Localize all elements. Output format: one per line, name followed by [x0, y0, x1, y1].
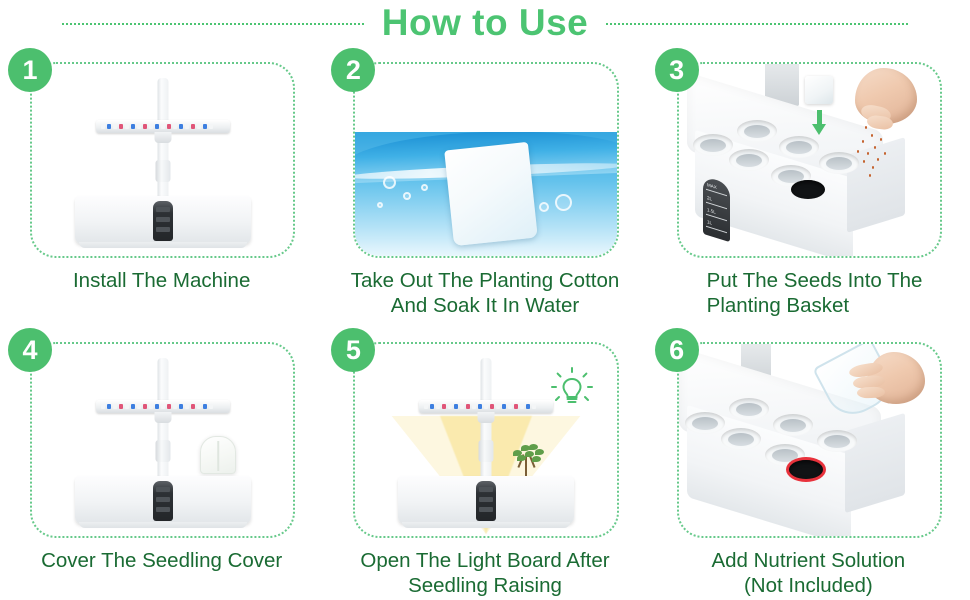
step-caption-1: Install The Machine	[6, 268, 317, 293]
caption-line: Open The Light Board After	[329, 548, 640, 573]
pole-joint	[155, 160, 170, 182]
pole-joint	[478, 440, 493, 462]
caption-line: (Not Included)	[653, 573, 964, 598]
step-badge-5: 5	[331, 328, 375, 372]
telescoping-pole	[480, 358, 491, 490]
planting-pod	[779, 136, 819, 158]
steps-grid: 1	[0, 40, 970, 600]
step-panel-6	[677, 342, 942, 538]
header-rule-right	[606, 23, 908, 25]
planting-pod	[817, 430, 857, 452]
caption-line: Seedling Raising	[329, 573, 640, 598]
down-arrow	[812, 110, 827, 135]
caption-line: Install The Machine	[6, 268, 317, 293]
cotton-cube	[805, 76, 833, 104]
scene-light-board-on	[355, 344, 616, 536]
scene-grow-light-device	[32, 64, 293, 256]
fill-hole-highlight	[789, 460, 823, 479]
planting-pod	[693, 134, 733, 156]
step-badge-2: 2	[331, 48, 375, 92]
step-badge-3: 3	[655, 48, 699, 92]
step-cell-4: 4	[0, 320, 323, 600]
scene-seeds-into-basket: MAX 2L 1.5L 1L	[679, 64, 940, 256]
step-panel-3: MAX 2L 1.5L 1L	[677, 62, 942, 258]
planting-pod	[729, 398, 769, 420]
step-panel-5	[353, 342, 618, 538]
water-level-gauge: MAX 2L 1.5L 1L	[703, 176, 730, 242]
planting-pod	[737, 120, 777, 142]
scene-cotton-in-water	[355, 64, 616, 256]
led-bar-hub	[154, 132, 171, 143]
gauge-mark: 1L	[706, 226, 727, 233]
caption-line: Put The Seeds Into The	[707, 268, 964, 293]
base-reservoir	[75, 196, 251, 244]
planting-pod	[729, 149, 769, 171]
step-caption-5: Open The Light Board After Seedling Rais…	[329, 548, 640, 598]
step-cell-6: 6	[647, 320, 970, 600]
caption-line: Add Nutrient Solution	[653, 548, 964, 573]
control-panel	[153, 481, 173, 521]
planting-pod	[685, 412, 725, 434]
step-panel-1	[30, 62, 295, 258]
seedling-plant	[507, 442, 547, 478]
step-cell-1: 1	[0, 40, 323, 320]
tank-side	[845, 413, 905, 513]
step-panel-4	[30, 342, 295, 538]
base-reservoir	[398, 476, 574, 524]
base-reservoir	[75, 476, 251, 524]
pole-joint	[155, 440, 170, 462]
control-panel	[153, 201, 173, 241]
header-rule-left	[62, 23, 364, 25]
step-caption-6: Add Nutrient Solution (Not Included)	[653, 548, 964, 598]
caption-line: Planting Basket	[707, 293, 964, 318]
step-badge-6: 6	[655, 328, 699, 372]
scene-seedling-cover	[32, 344, 293, 536]
fill-hole	[791, 180, 825, 199]
led-bar-hub	[154, 412, 171, 423]
planting-cotton	[444, 142, 538, 246]
caption-line: Cover The Seedling Cover	[6, 548, 317, 573]
telescoping-pole	[157, 78, 168, 210]
planting-pod	[819, 152, 859, 174]
planting-pod	[773, 414, 813, 436]
caption-line: Take Out The Planting Cotton	[329, 268, 640, 293]
step-caption-4: Cover The Seedling Cover	[6, 548, 317, 573]
water-area	[355, 132, 616, 256]
step-caption-3: Put The Seeds Into The Planting Basket	[653, 268, 964, 318]
step-caption-2: Take Out The Planting Cotton And Soak It…	[329, 268, 640, 318]
scene-add-nutrient-solution	[679, 344, 940, 536]
step-cell-2: 2	[323, 40, 646, 320]
tank-side	[847, 137, 905, 233]
caption-line: And Soak It In Water	[329, 293, 640, 318]
led-bar-hub	[477, 412, 494, 423]
control-panel	[476, 481, 496, 521]
light-bulb-icon	[549, 366, 595, 412]
step-badge-1: 1	[8, 48, 52, 92]
telescoping-pole	[157, 358, 168, 490]
planting-pod	[721, 428, 761, 450]
seedling-dome-cover	[200, 436, 236, 474]
step-cell-3: 3 MAX	[647, 40, 970, 320]
step-badge-4: 4	[8, 328, 52, 372]
page-title: How to Use	[382, 1, 588, 45]
step-cell-5: 5	[323, 320, 646, 600]
step-panel-2	[353, 62, 618, 258]
infographic-root: How to Use 1	[0, 0, 970, 600]
